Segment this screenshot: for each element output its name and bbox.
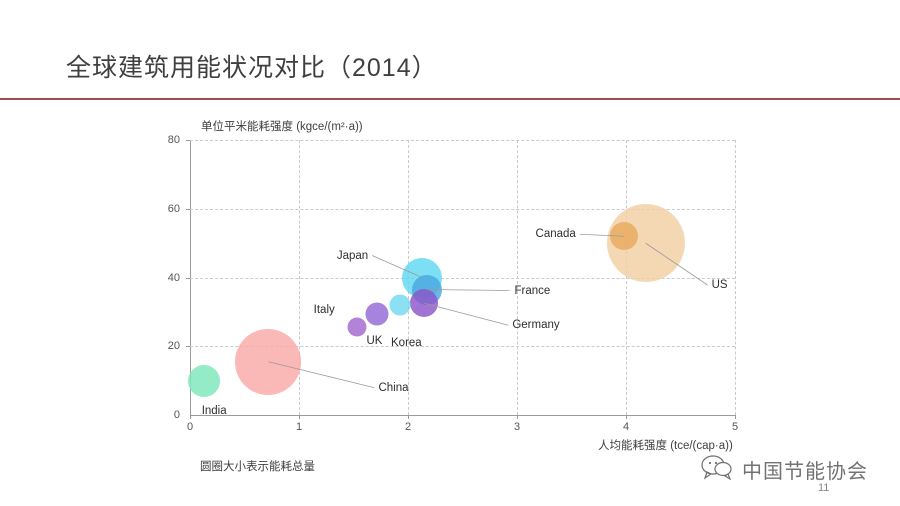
footer-branding: 中国节能协会	[700, 452, 868, 487]
wechat-speech-bubble-icon	[700, 452, 736, 487]
point-label-italy: Italy	[314, 304, 335, 316]
bubble-chart: 单位平米能耗强度 (kgce/(m²·a)) 人均能耗强度 (tce/(cap·…	[0, 110, 900, 470]
bubble-korea[interactable]	[390, 295, 411, 316]
y-tick-label: 0	[174, 409, 180, 421]
bubble-canada[interactable]	[610, 222, 638, 250]
point-label-japan: Japan	[337, 250, 368, 262]
point-label-us: US	[712, 279, 728, 291]
y-tick-mark	[186, 278, 190, 279]
chart-footnote: 圆圈大小表示能耗总量	[200, 458, 315, 474]
brand-name: 中国节能协会	[742, 455, 868, 484]
bubble-uk[interactable]	[366, 302, 389, 325]
x-tick-label: 0	[187, 421, 193, 433]
x-tick-label: 3	[514, 421, 520, 433]
bubble-germany[interactable]	[410, 289, 438, 317]
x-axis-label: 人均能耗强度 (tce/(cap·a))	[598, 437, 733, 453]
y-tick-label: 60	[168, 203, 180, 215]
y-tick-label: 40	[168, 272, 180, 284]
x-tick-mark	[517, 415, 518, 419]
x-tick-mark	[408, 415, 409, 419]
gridline-horizontal	[190, 140, 735, 141]
y-tick-mark	[186, 140, 190, 141]
point-label-korea: Korea	[391, 337, 422, 349]
x-tick-label: 2	[405, 421, 411, 433]
point-label-france: France	[515, 285, 551, 297]
plot-region	[190, 140, 735, 415]
bubble-italy[interactable]	[347, 318, 366, 337]
x-tick-label: 4	[623, 421, 629, 433]
point-label-germany: Germany	[512, 319, 559, 331]
point-label-india: India	[202, 405, 227, 417]
title-divider	[0, 98, 900, 100]
y-tick-mark	[186, 209, 190, 210]
x-tick-label: 1	[296, 421, 302, 433]
bubble-china[interactable]	[235, 329, 301, 395]
y-tick-mark	[186, 346, 190, 347]
gridline-vertical	[735, 140, 736, 415]
point-label-canada: Canada	[536, 228, 576, 240]
point-label-uk: UK	[366, 335, 382, 347]
page-number: 11	[818, 482, 829, 494]
x-tick-mark	[626, 415, 627, 419]
x-tick-label: 5	[732, 421, 738, 433]
y-tick-label: 80	[168, 134, 180, 146]
bubble-india[interactable]	[188, 365, 220, 397]
x-tick-mark	[735, 415, 736, 419]
x-axis-line	[190, 415, 736, 416]
page-title: 全球建筑用能状况对比（2014）	[66, 48, 438, 84]
y-tick-label: 20	[168, 340, 180, 352]
point-label-china: China	[378, 382, 408, 394]
y-axis-label: 单位平米能耗强度 (kgce/(m²·a))	[201, 118, 363, 134]
x-tick-mark	[299, 415, 300, 419]
x-tick-mark	[190, 415, 191, 419]
